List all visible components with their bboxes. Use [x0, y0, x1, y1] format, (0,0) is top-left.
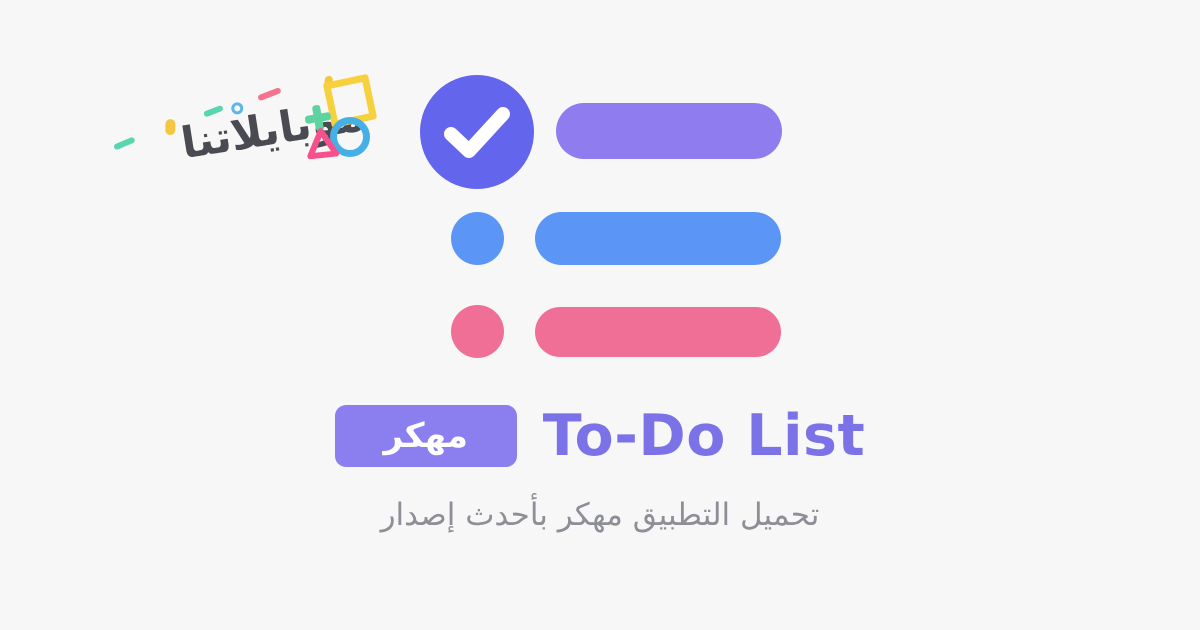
pink-triangle-outline-icon [305, 126, 340, 159]
confetti-pink-dash [257, 87, 282, 101]
task-bar-third [535, 307, 781, 357]
task-dot-third [451, 305, 504, 358]
poster-canvas: موبايلاتنا [0, 0, 1200, 630]
checkmark-circle-icon [420, 75, 534, 189]
task-bar-completed [556, 103, 782, 159]
task-bar-second [535, 212, 781, 265]
title-row: مهكر To-Do List [0, 405, 1200, 467]
page-title: To-Do List [543, 408, 865, 465]
mod-badge: مهكر [335, 405, 517, 467]
todo-checklist-icon [418, 72, 788, 362]
confetti-yellow-dash-1 [165, 119, 175, 135]
subtitle-text: تحميل التطبيق مهكر بأحدث إصدار [0, 495, 1200, 535]
task-dot-second [451, 212, 504, 265]
